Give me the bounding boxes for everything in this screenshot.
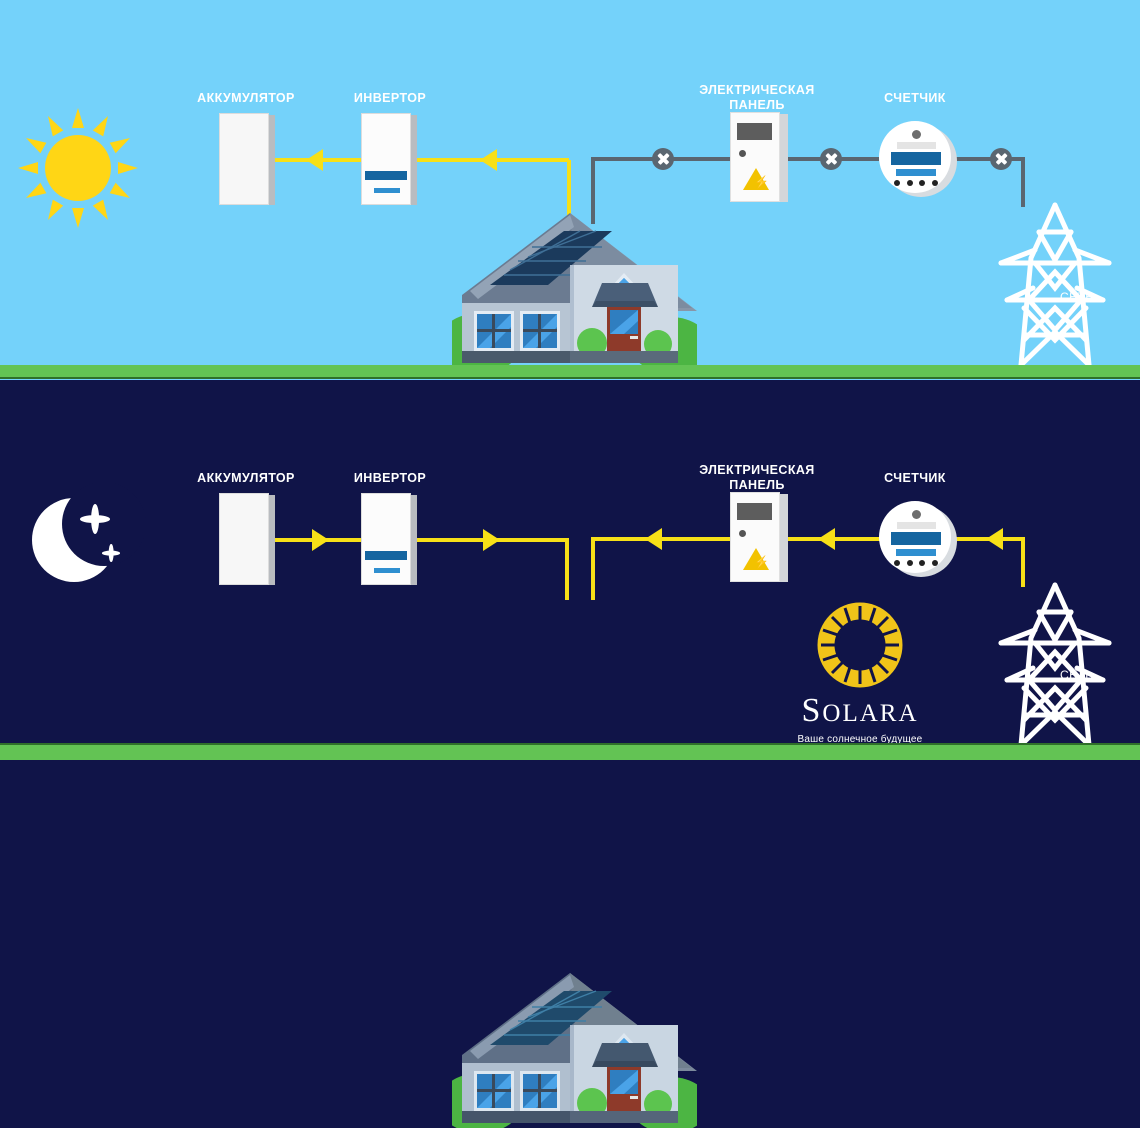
meter-dots <box>894 560 938 566</box>
x-blocker-icon <box>820 148 842 170</box>
inverter-icon-night <box>361 493 417 585</box>
meter-main-display <box>891 532 941 545</box>
panel-side <box>780 494 788 582</box>
label-inverter-day: ИНВЕРТОР <box>330 91 450 106</box>
arrow-to-house-night <box>483 529 500 551</box>
panel-screen <box>737 503 772 520</box>
battery-side <box>269 495 275 585</box>
wire-house-riser-left-night <box>565 538 569 600</box>
inverter-indicator-bar <box>374 568 400 573</box>
night-scene: АККУМУЛЯТОР ИНВЕРТОР ЭЛЕКТРИЧЕСКАЯ ПАНЕЛ… <box>0 380 1140 760</box>
inverter-icon-day <box>361 113 417 205</box>
panel-indicator-dot <box>739 150 746 157</box>
inverter-side <box>411 495 417 585</box>
arrow-to-inverter-night <box>312 529 329 551</box>
ground-edge-day <box>0 377 1140 379</box>
arrow-to-battery-day <box>306 149 323 171</box>
battery-side <box>269 115 275 205</box>
moon-icon <box>26 490 136 600</box>
logo-wordmark: SOLARA <box>780 694 940 731</box>
panel-indicator-dot <box>739 530 746 537</box>
label-battery-night: АККУМУЛЯТОР <box>186 471 306 486</box>
electric-meter-icon-day <box>879 121 957 199</box>
meter-top-bar <box>897 522 936 529</box>
wire-house-riser-right-night <box>591 538 595 600</box>
day-scene: АККУМУЛЯТОР ИНВЕРТОР ЭЛЕКТРИЧЕСКАЯ ПАНЕЛ… <box>0 0 1140 380</box>
arrow-panel-to-house-night <box>645 528 662 550</box>
transmission-tower-icon-day <box>995 200 1115 375</box>
meter-top-bar <box>897 142 936 149</box>
star-icon <box>102 544 120 562</box>
meter-dots <box>894 180 938 186</box>
house-with-solar-panels-icon-day <box>452 203 692 368</box>
solara-logo: SOLARA Ваше солнечное будущее <box>780 602 940 742</box>
meter-knob <box>912 510 921 519</box>
label-panel-day: ЭЛЕКТРИЧЕСКАЯ ПАНЕЛЬ <box>697 83 817 113</box>
battery-body <box>219 113 269 205</box>
inverter-side <box>411 115 417 205</box>
inverter-display-bar <box>365 171 407 180</box>
electrical-panel-icon-day: ⚡ <box>730 112 788 202</box>
battery-icon-night <box>219 493 275 585</box>
meter-knob <box>912 130 921 139</box>
meter-sub-display <box>896 169 936 176</box>
battery-icon-day <box>219 113 275 205</box>
inverter-indicator-bar <box>374 188 400 193</box>
electric-meter-icon-night <box>879 501 957 579</box>
sun-ring-icon <box>817 602 903 688</box>
arrow-meter-to-panel-night <box>818 528 835 550</box>
meter-sub-display <box>896 549 936 556</box>
panel-side <box>780 114 788 202</box>
battery-body <box>219 493 269 585</box>
label-panel-night: ЭЛЕКТРИЧЕСКАЯ ПАНЕЛЬ <box>697 463 817 493</box>
label-meter-day: СЧЕТЧИК <box>855 91 975 106</box>
lightning-bolt-icon: ⚡ <box>754 556 769 568</box>
logo-wordmark-rest: OLARA <box>822 700 918 727</box>
panel-screen <box>737 123 772 140</box>
sun-icon <box>18 108 138 228</box>
grass-strip-night <box>0 745 1140 760</box>
label-inverter-night: ИНВЕРТОР <box>330 471 450 486</box>
x-blocker-icon <box>652 148 674 170</box>
label-battery-day: АККУМУЛЯТОР <box>186 91 306 106</box>
house-with-solar-panels-icon-night <box>452 963 692 1128</box>
star-icon <box>80 504 110 534</box>
electrical-panel-icon-night: ⚡ <box>730 492 788 582</box>
arrow-to-inverter-day <box>480 149 497 171</box>
label-meter-night: СЧЕТЧИК <box>855 471 975 486</box>
lightning-bolt-icon: ⚡ <box>754 176 769 188</box>
transmission-tower-icon-night <box>995 580 1115 755</box>
infographic-canvas: АККУМУЛЯТОР ИНВЕРТОР ЭЛЕКТРИЧЕСКАЯ ПАНЕЛ… <box>0 0 1140 760</box>
arrow-grid-to-meter-night <box>986 528 1003 550</box>
inverter-display-bar <box>365 551 407 560</box>
meter-main-display <box>891 152 941 165</box>
logo-wordmark-initial: S <box>801 692 822 729</box>
x-blocker-icon <box>990 148 1012 170</box>
